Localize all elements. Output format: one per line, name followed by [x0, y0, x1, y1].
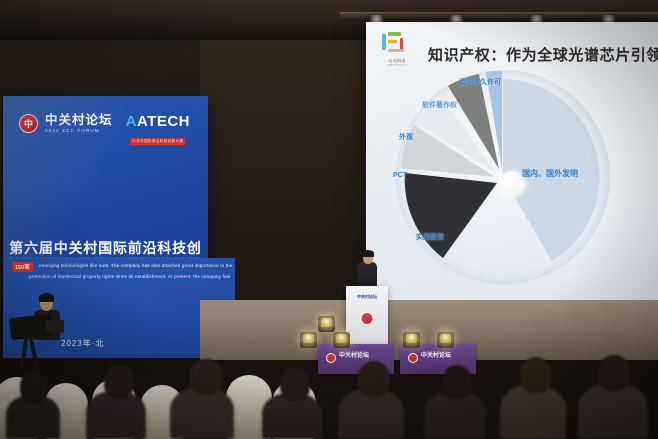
- audience-shoulders: [578, 383, 648, 439]
- lighting-truss: [340, 12, 658, 19]
- subtitle-line-2: protection of intellectual property righ…: [29, 274, 230, 279]
- audience-head: [598, 355, 630, 391]
- ip-pie-chart: 清华永久许可 软件著作权 外观 PCT 实用新型 国内、国外发明: [374, 84, 650, 284]
- audience-head: [280, 367, 310, 401]
- zgc-forum-name-en: 2023 ZGC FORUM: [45, 128, 113, 133]
- audience-shoulders: [500, 385, 566, 439]
- conference-hall-photo: 与光科技 SPECTRICITY 知识产权：作为全球光谱芯片引领者，: [0, 0, 658, 439]
- pie-label-tsinghua-license: 清华永久许可: [459, 77, 501, 87]
- audience-head: [20, 371, 48, 403]
- zgc-forum-name-cn: 中关村论坛: [45, 114, 113, 127]
- audience-head: [520, 357, 552, 393]
- pie-slice-utility-model: [405, 173, 497, 258]
- camera-operator-hair: [39, 293, 54, 302]
- pie-label-design: 外观: [399, 132, 413, 142]
- podium-seal-icon: [361, 312, 374, 325]
- pie-label-pct: PCT: [393, 172, 407, 179]
- slide-title: 知识产权：作为全球光谱芯片引领者，: [428, 44, 658, 65]
- atech-wordmark: AATECH: [126, 114, 190, 129]
- slide-company-logo: 与光科技 SPECTRICITY: [376, 32, 418, 72]
- speaker-hair: [362, 250, 374, 257]
- logo-company-sub: SPECTRICITY: [376, 64, 418, 67]
- audience-head: [190, 359, 222, 395]
- zgc-forum-logo: 中 中关村论坛 2023 ZGC FORUM: [19, 114, 113, 133]
- audience-head: [442, 365, 472, 399]
- pie-label-software-copyright: 软件著作权: [422, 100, 457, 110]
- pie-label-domestic-foreign-invention: 国内、国外发明: [522, 168, 578, 179]
- atech-subtitle: 中关村国际前沿科技创新大赛: [130, 138, 185, 145]
- ip-count-badge: 150项: [12, 262, 33, 272]
- audience-foreground: [0, 330, 658, 439]
- audience-head: [104, 365, 134, 399]
- podium-logo-text: 中关村论坛: [357, 294, 377, 300]
- audience-head: [358, 361, 390, 397]
- zgc-seal-icon: 中: [19, 114, 38, 133]
- atech-logo: AATECH 中关村国际前沿科技创新大赛: [126, 114, 190, 147]
- projection-screen: 与光科技 SPECTRICITY 知识产权：作为全球光谱芯片引领者，: [366, 22, 658, 327]
- subtitle-line-1: emerging technologies like ours. The com…: [39, 263, 233, 268]
- logo-mark: [382, 32, 412, 56]
- atech-name-rest: ATECH: [137, 113, 190, 130]
- pie-label-utility-model: 实用新型: [416, 232, 444, 242]
